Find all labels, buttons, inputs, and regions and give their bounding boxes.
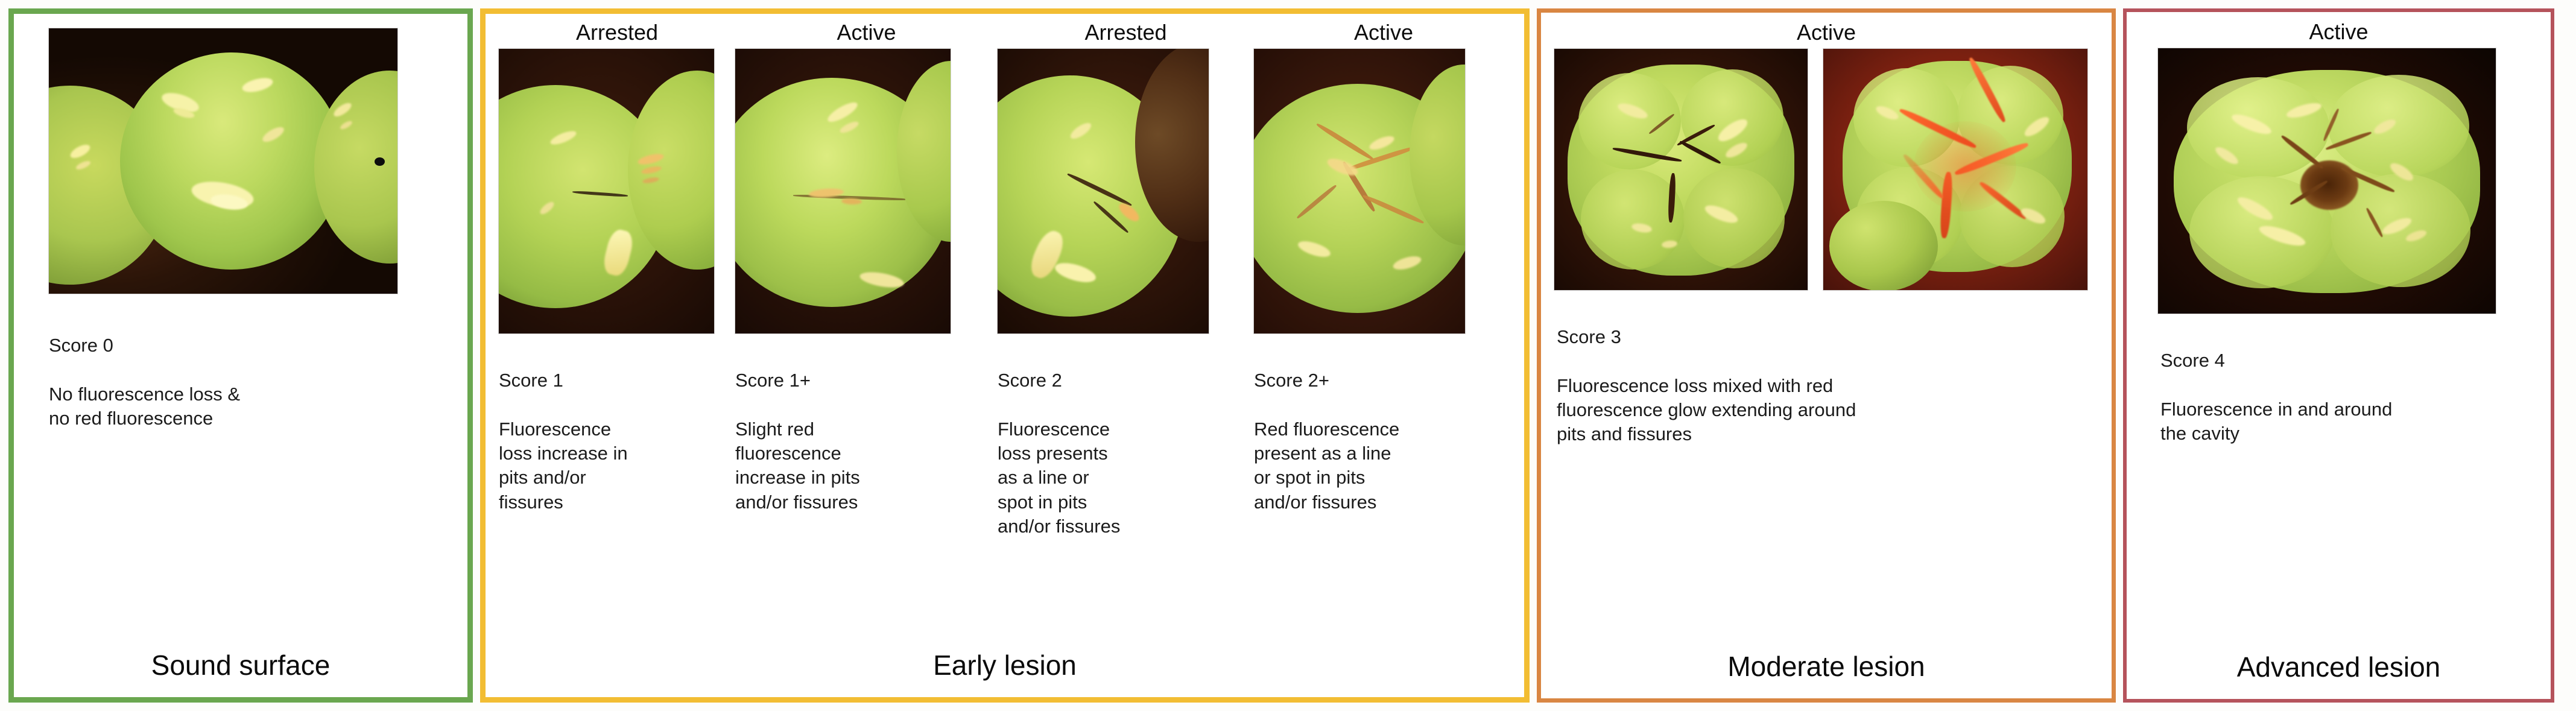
score-description-1: Fluorescence loss increase in pits and/o… bbox=[499, 417, 716, 514]
score-label-3: Score 3 bbox=[1557, 325, 2100, 349]
footer-early-lesion: Early lesion bbox=[486, 649, 1524, 697]
tooth-photo-score-4 bbox=[2158, 48, 2496, 314]
column-score-2: Arrested Score 2 Fluoresce bbox=[998, 16, 1254, 563]
state-label-score-4: Active bbox=[2127, 12, 2551, 48]
state-label-score-2-plus: Active bbox=[1254, 16, 1513, 49]
footer-moderate-lesion: Moderate lesion bbox=[1541, 650, 2112, 698]
score-description-2-plus: Red fluorescence present as a line or sp… bbox=[1254, 417, 1498, 514]
caption-score-4: Score 4 Fluorescence in and around the c… bbox=[2127, 314, 2522, 470]
caption-score-3: Score 3 Fluorescence loss mixed with red… bbox=[1541, 290, 2100, 471]
caries-scoring-chart: Score 0 No fluorescence loss & no red fl… bbox=[0, 0, 2576, 711]
score-description-3: Fluorescence loss mixed with red fluores… bbox=[1557, 374, 2100, 447]
column-score-2-plus: Active bbox=[1254, 16, 1513, 539]
panel-moderate-lesion: Active bbox=[1537, 8, 2116, 703]
score-description-4: Fluorescence in and around the cavity bbox=[2160, 397, 2522, 446]
caption-score-2: Score 2 Fluorescence loss presents as a … bbox=[998, 333, 1233, 563]
tooth-photo-score-3-left bbox=[1554, 49, 1808, 290]
tooth-photo-score-1 bbox=[499, 49, 714, 333]
score-label-1: Score 1 bbox=[499, 368, 716, 393]
column-score-1-plus: Active Score 1+ Slight red bbox=[735, 16, 998, 539]
score-description-0: No fluorescence loss & no red fluorescen… bbox=[49, 382, 411, 431]
tooth-photo-score-3-right bbox=[1823, 49, 2087, 290]
column-score-1: Arrested Score 1 bbox=[499, 16, 735, 539]
column-score-0: Score 0 No fluorescence loss & no red fl… bbox=[49, 20, 411, 455]
state-label-score-1-plus: Active bbox=[735, 16, 998, 49]
tooth-photo-score-1-plus bbox=[735, 49, 951, 333]
tooth-photo-score-2 bbox=[998, 49, 1209, 333]
caption-score-1: Score 1 Fluorescence loss increase in pi… bbox=[499, 333, 716, 539]
score-label-2-plus: Score 2+ bbox=[1254, 368, 1498, 393]
state-label-score-2: Arrested bbox=[998, 16, 1254, 49]
score-label-0: Score 0 bbox=[49, 333, 411, 358]
footer-advanced-lesion: Advanced lesion bbox=[2127, 651, 2551, 699]
panel-early-lesion: Arrested Score 1 bbox=[480, 8, 1530, 703]
score-label-4: Score 4 bbox=[2160, 349, 2522, 373]
score-label-1-plus: Score 1+ bbox=[735, 368, 976, 393]
state-label-score-1: Arrested bbox=[499, 16, 735, 49]
score-description-2: Fluorescence loss presents as a line or … bbox=[998, 417, 1233, 539]
panel-advanced-lesion: Active bbox=[2123, 8, 2554, 703]
panel-sound-surface: Score 0 No fluorescence loss & no red fl… bbox=[8, 8, 473, 703]
caption-score-2-plus: Score 2+ Red fluorescence present as a l… bbox=[1254, 333, 1498, 539]
score-description-1-plus: Slight red fluorescence increase in pits… bbox=[735, 417, 976, 514]
score-label-2: Score 2 bbox=[998, 368, 1233, 393]
tooth-photo-score-2-plus bbox=[1254, 49, 1465, 333]
footer-sound-surface: Sound surface bbox=[14, 649, 467, 697]
caption-score-1-plus: Score 1+ Slight red fluorescence increas… bbox=[735, 333, 976, 539]
tooth-photo-score-0 bbox=[49, 28, 397, 294]
state-label-score-3: Active bbox=[1541, 13, 2112, 49]
caption-score-0: Score 0 No fluorescence loss & no red fl… bbox=[49, 294, 411, 455]
